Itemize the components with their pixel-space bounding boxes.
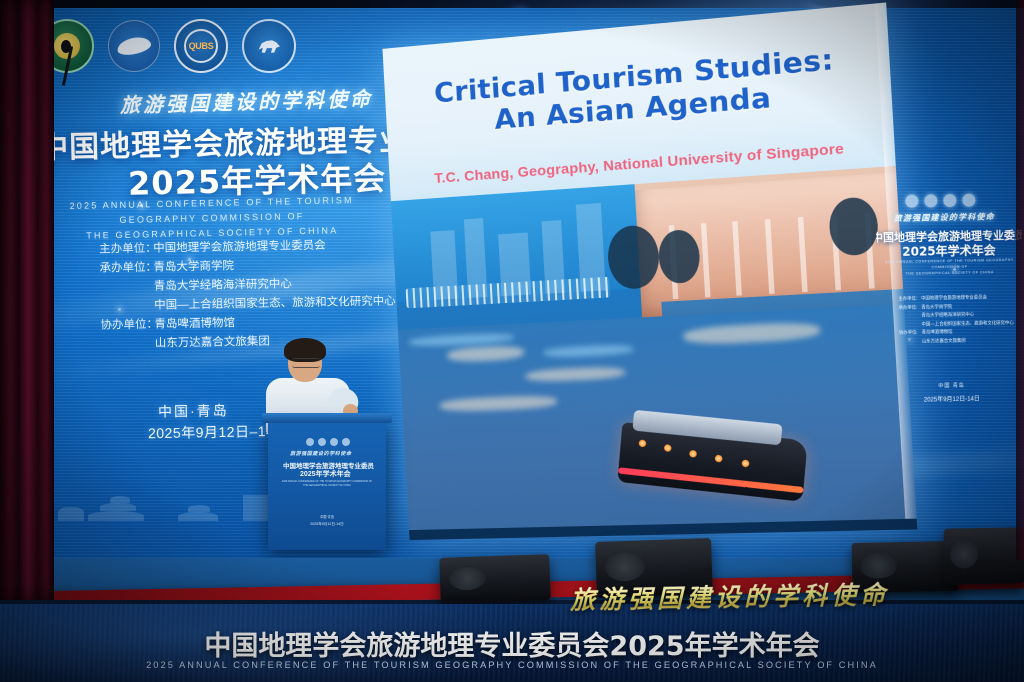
research-center-horse-logo-icon — [342, 438, 350, 446]
stage-curtain-left — [0, 0, 54, 600]
organizer-value: 中国地理学会旅游地理专业委员会 — [921, 293, 987, 303]
organizer-value: 山东万达嘉合文旅集团 — [155, 333, 270, 354]
qubs-business-school-logo-icon — [330, 438, 338, 446]
backdrop-location: 中国·青岛 — [158, 400, 229, 421]
podium-location: 中国·青岛 — [280, 514, 374, 519]
eyeglasses-icon — [292, 358, 320, 368]
organizer-value: 山东万达嘉合文旅集团 — [922, 336, 966, 345]
backdrop-slogan: 旅游强国建设的学科使命 — [120, 83, 374, 119]
qingdao-university-logo-icon — [108, 20, 160, 72]
qubs-business-school-logo-icon: QUBS — [174, 19, 228, 73]
organization-logo-row: QUBS — [48, 18, 370, 74]
slide-photo-singapore-river — [391, 165, 917, 540]
research-center-horse-logo-icon — [962, 194, 975, 207]
research-center-horse-logo-icon — [242, 19, 296, 73]
organizer-label: 协办单位： — [100, 316, 146, 336]
organizer-value: 中国—上合组织国家生态、旅游和文化研究中心 — [921, 318, 1013, 328]
geographical-society-of-china-logo-icon — [905, 195, 918, 208]
organizer-label — [892, 337, 918, 346]
podium-title-line2: 2025年学术年会 — [300, 469, 351, 479]
presentation-projection-screen: Critical Tourism Studies: An Asian Agend… — [382, 2, 917, 540]
right-banner-dates: 2025年9月12日-14日 — [879, 393, 1024, 405]
qingdao-university-logo-icon — [924, 194, 937, 207]
stage-monitor-speaker — [439, 554, 551, 604]
stage-bottom-banner: 中国地理学会旅游地理专业委员会2025年学术年会 2025 ANNUAL CON… — [0, 604, 1024, 682]
organizer-row: 山东万达嘉合文旅集团 — [892, 335, 1022, 346]
podium-logo-row — [306, 438, 350, 446]
organizer-label — [100, 297, 146, 317]
podium-banner-panel: 旅游强国建设的学科使命 中国地理学会旅游地理专业委员会 2025年学术年会 20… — [280, 436, 374, 540]
right-banner-logo-row — [905, 194, 975, 208]
bottom-banner-subtitle: 2025 ANNUAL CONFERENCE OF THE TOURISM GE… — [0, 660, 1024, 670]
bottom-banner-title: 中国地理学会旅游地理专业委员会2025年学术年会 — [0, 624, 1024, 663]
right-banner-location: 中国 青岛 — [879, 381, 1024, 391]
organizer-label: 承办单位： — [99, 259, 145, 279]
right-banner-slogan: 旅游强国建设的学科使命 — [894, 211, 995, 224]
organizer-label: 主办单位： — [99, 240, 145, 260]
podium-title-english: 2025 ANNUAL CONFERENCE OF THE TOURISM GE… — [280, 480, 374, 488]
microphone-icon — [61, 40, 71, 53]
organizer-list: 主办单位： 中国地理学会旅游地理专业委员会 承办单位： 青岛大学商学院 青岛大学… — [99, 235, 398, 354]
stage-curtain-right — [1016, 0, 1024, 560]
backdrop-right-text-panel: 旅游强国建设的学科使命 中国地理学会旅游地理专业委员会 2025年学术年会 20… — [875, 185, 1024, 517]
organizer-label — [100, 278, 146, 298]
stage-slogan-calligraphy: 旅游强国建设的学科使命 — [570, 575, 890, 617]
organizer-value: 青岛大学经略海洋研究中心 — [154, 275, 292, 296]
podium-slogan: 旅游强国建设的学科使命 — [290, 450, 352, 457]
organizer-value: 中国地理学会旅游地理专业委员会 — [153, 237, 326, 259]
geographical-society-of-china-logo-icon — [306, 438, 314, 446]
organizer-value: 青岛大学商学院 — [153, 257, 234, 277]
organizer-value: 青岛啤酒博物馆 — [154, 314, 235, 334]
right-banner-organizer-list: 主办单位: 中国地理学会旅游地理专业委员会 承办单位: 青岛大学商学院 青岛大学… — [891, 293, 1022, 346]
conference-stage-photo: QUBS 旅游强国建设的学科使命 中国地理学会旅游地理专业委员会 2025年学术… — [0, 0, 1024, 682]
right-banner-title-en-line2: THE GEOGRAPHICAL SOCIETY OF CHINA — [875, 269, 1024, 278]
right-banner-title-english: 2025 ANNUAL CONFERENCE OF THE TOURISM GE… — [875, 257, 1024, 278]
organizer-label — [101, 335, 147, 355]
qingdao-university-logo-icon — [318, 438, 326, 446]
stage-monitor-speaker — [944, 527, 1024, 584]
podium-dates: 2025年9月12日-14日 — [280, 522, 374, 527]
speaker-podium: 旅游强国建设的学科使命 中国地理学会旅游地理专业委员会 2025年学术年会 20… — [268, 420, 386, 550]
qubs-business-school-logo-icon — [943, 194, 956, 207]
